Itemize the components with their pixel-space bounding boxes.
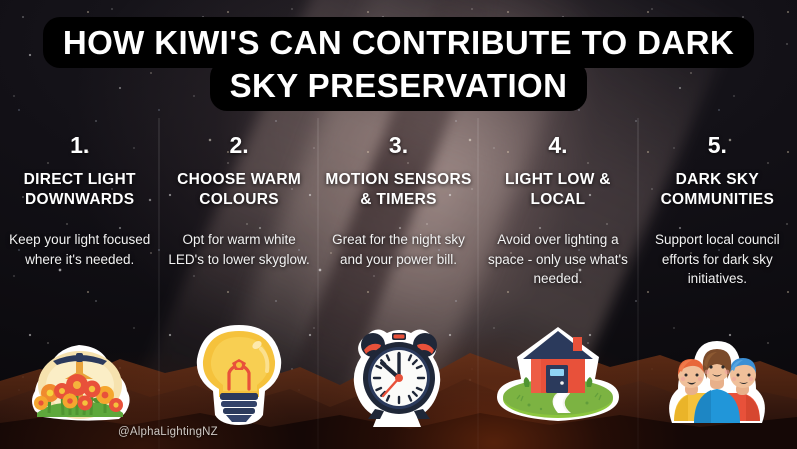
- tip-heading-3: MOTION SENSORS & TIMERS: [319, 170, 478, 211]
- page-title: How Kiwi's Can Contribute to Dark Sky Pr…: [0, 22, 797, 108]
- alarm-clock-icon: [319, 317, 478, 427]
- tip-column-2: 2. CHOOSE WARM COLOURS Opt for warm whit…: [159, 118, 318, 449]
- tip-body-2: Opt for warm white LED's to lower skyglo…: [159, 230, 318, 269]
- tip-body-5: Support local council efforts for dark s…: [638, 230, 797, 289]
- tip-number-5: 5.: [638, 132, 797, 159]
- infographic-poster: How Kiwi's Can Contribute to Dark Sky Pr…: [0, 0, 797, 449]
- people-group-icon: [638, 317, 797, 427]
- tip-number-1: 1.: [0, 132, 159, 159]
- tip-heading-1: DIRECT LIGHT DOWNWARDS: [0, 170, 159, 211]
- light-bulb-icon: [159, 317, 318, 427]
- tip-body-1: Keep your light focused where it's neede…: [0, 230, 159, 269]
- tip-body-3: Great for the night sky and your power b…: [319, 230, 478, 269]
- tip-number-3: 3.: [319, 132, 478, 159]
- tip-body-4: Avoid over lighting a space - only use w…: [478, 230, 637, 289]
- title-line-2: Sky Preservation: [210, 60, 588, 111]
- garden-lamp-flowers-icon: [0, 317, 159, 427]
- tip-heading-5: DARK SKY COMMUNITIES: [638, 170, 797, 211]
- tip-number-4: 4.: [478, 132, 637, 159]
- tip-column-4: 4. LIGHT LOW & LOCAL Avoid over lighting…: [478, 118, 637, 449]
- tip-column-3: 3. MOTION SENSORS & TIMERS Great for the…: [319, 118, 478, 449]
- tip-heading-4: LIGHT LOW & LOCAL: [478, 170, 637, 211]
- tips-columns: 1. DIRECT LIGHT DOWNWARDS Keep your ligh…: [0, 118, 797, 449]
- tip-number-2: 2.: [159, 132, 318, 159]
- tip-column-5: 5. DARK SKY COMMUNITIES Support local co…: [638, 118, 797, 449]
- tip-heading-2: CHOOSE WARM COLOURS: [159, 170, 318, 211]
- tip-column-1: 1. DIRECT LIGHT DOWNWARDS Keep your ligh…: [0, 118, 159, 449]
- house-lawn-icon: [478, 317, 637, 427]
- watermark: @AlphaLightingNZ: [118, 426, 218, 438]
